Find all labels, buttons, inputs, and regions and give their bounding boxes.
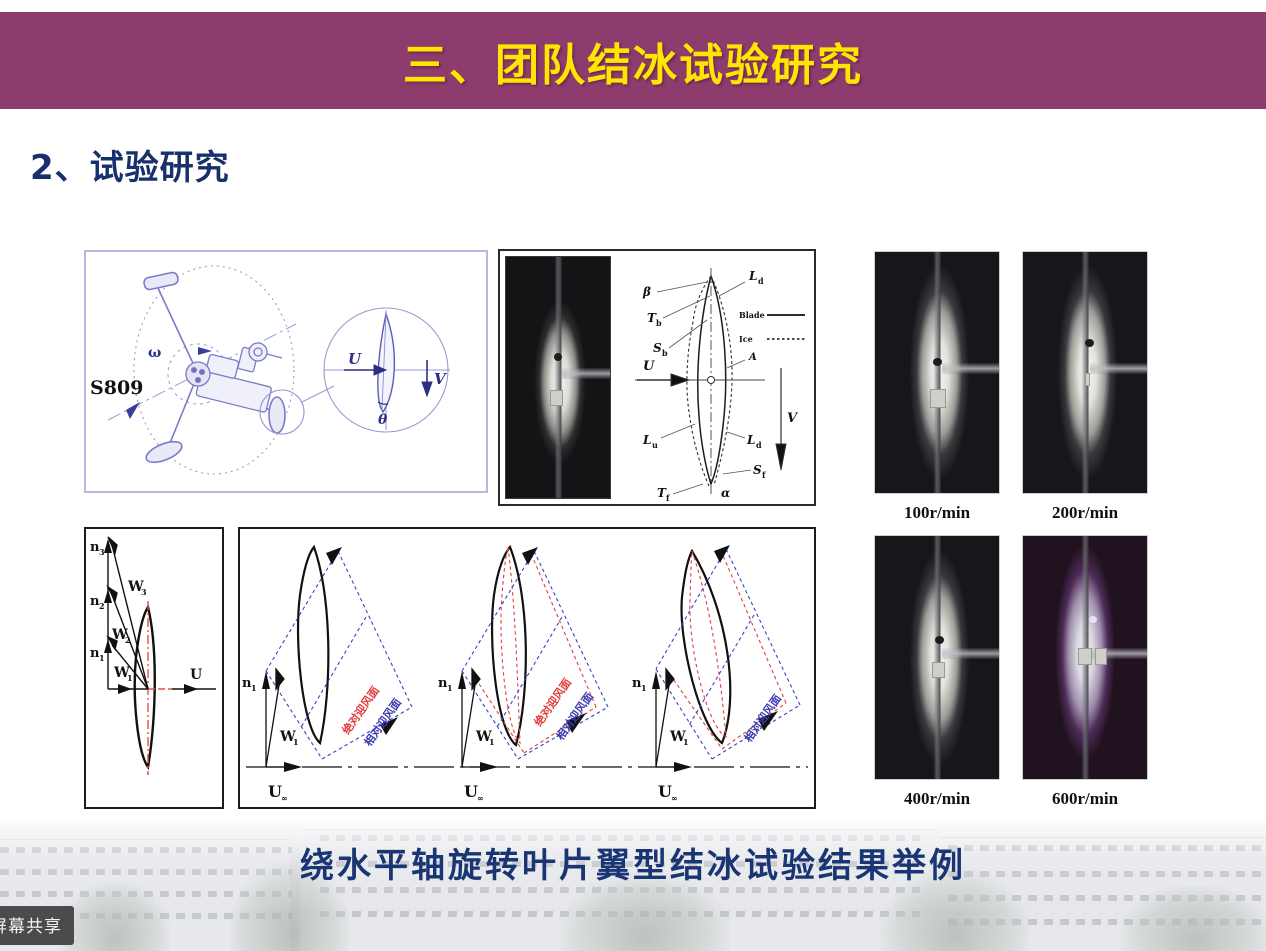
label-u-vector: U [643, 359, 655, 374]
iced-airfoil-photo [505, 256, 611, 499]
velocity-triangle-svg: n 1 n 2 n 3 W 1 W 2 W 3 U [86, 529, 222, 807]
photo-cell-200rpm [1022, 251, 1148, 494]
label-sf: S [753, 463, 762, 477]
label-sf-sub: f [762, 470, 766, 480]
rotor-schematic-svg: S809 ω U V θ [86, 252, 486, 491]
label-s809: S809 [90, 377, 143, 399]
subplot3-label-w-sub: 1 [683, 737, 689, 747]
subplot2-label-w-sub: 1 [489, 737, 495, 747]
subplot2-label-u: U [464, 782, 478, 801]
legend-blade-label: Blade [739, 310, 765, 320]
label-w1-sub: 1 [127, 673, 133, 683]
legend-ice-label: Ice [739, 334, 753, 344]
label-lu: L [642, 433, 651, 447]
photo-label-100rpm: 100r/min [874, 503, 1000, 523]
label-n3-sub: 3 [99, 547, 105, 557]
iced-airfoil-diagram: Blade Ice β L d T b S b A L u L d S [615, 256, 809, 499]
subplot3-annotation-relative: 相对迎风面 [741, 692, 784, 745]
label-tf-sub: f [666, 493, 670, 501]
label-omega: ω [148, 345, 161, 361]
label-lu-sub: u [652, 440, 658, 450]
subplot1-label-u-sub: ∞ [281, 793, 288, 803]
label-sb-sub: b [662, 348, 668, 358]
subplot2-label-n-sub: 1 [447, 683, 453, 693]
label-ld-top-sub: d [758, 276, 764, 286]
label-n2-sub: 2 [99, 601, 105, 611]
page-title: 三、团队结冰试验研究 [403, 29, 863, 93]
attack-subplot-3: n 1 W 1 U ∞ 相对迎风面 [632, 545, 800, 803]
label-a-point: A [748, 352, 757, 363]
photo-cell-100rpm [874, 251, 1000, 494]
photo-600rpm [1022, 535, 1148, 780]
subplot1-label-w-sub: 1 [293, 737, 299, 747]
photo-label-200rpm: 200r/min [1022, 503, 1148, 523]
subplot1-label-u: U [268, 782, 282, 801]
label-v-vector: V [787, 411, 799, 426]
screen-share-banner: 电的屏幕共享 [0, 906, 74, 945]
photo-cell-400rpm [874, 535, 1000, 780]
subplot3-label-u: U [658, 782, 672, 801]
slide-root: 三、团队结冰试验研究 2、试验研究 [0, 0, 1266, 951]
label-ld-bottom-sub: d [756, 440, 762, 450]
label-theta: θ [378, 412, 388, 428]
iced-airfoil-panel: Blade Ice β L d T b S b A L u L d S [498, 249, 816, 506]
airfoil-diagram-svg: Blade Ice β L d T b S b A L u L d S [615, 256, 809, 501]
attack-subplot-1: n 1 W 1 U ∞ 绝对迎风面 相对迎风面 [242, 547, 412, 803]
label-w3-sub: 3 [141, 587, 147, 597]
rotor-schematic-panel: S809 ω U V θ [84, 250, 488, 493]
label-w2-sub: 2 [125, 635, 131, 645]
label-beta: β [642, 285, 651, 299]
label-alpha: α [721, 486, 730, 500]
velocity-triangle-panel: n 1 n 2 n 3 W 1 W 2 W 3 U [84, 527, 224, 809]
section-header-bar: 三、团队结冰试验研究 [0, 12, 1266, 109]
subplot3-label-n-sub: 1 [641, 683, 647, 693]
label-sb: S [653, 341, 662, 355]
photo-label-400rpm: 400r/min [874, 789, 1000, 809]
photo-400rpm [874, 535, 1000, 780]
label-u: U [190, 667, 202, 683]
attack-diagrams-svg: n 1 W 1 U ∞ 绝对迎风面 相对迎风面 [240, 529, 814, 807]
photo-cell-600rpm [1022, 535, 1148, 780]
photo-100rpm [874, 251, 1000, 494]
subplot2-label-u-sub: ∞ [477, 793, 484, 803]
label-ld-bottom: L [746, 433, 755, 447]
label-ld-top: L [748, 269, 757, 283]
figure-caption: 绕水平轴旋转叶片翼型结冰试验结果举例 [0, 838, 1266, 887]
photo-200rpm [1022, 251, 1148, 494]
photo-label-600rpm: 600r/min [1022, 789, 1148, 809]
label-u-velocity: U [348, 350, 362, 368]
label-tb-sub: b [656, 318, 662, 328]
subsection-title: 2、试验研究 [30, 140, 230, 189]
label-n1-sub: 1 [99, 653, 105, 663]
subplot1-label-n-sub: 1 [251, 683, 257, 693]
attack-diagrams-panel: n 1 W 1 U ∞ 绝对迎风面 相对迎风面 [238, 527, 816, 809]
subplot3-label-u-sub: ∞ [671, 793, 678, 803]
label-v-velocity: V [434, 370, 447, 388]
attack-subplot-2: n 1 W 1 U ∞ 绝对迎风面 相对迎风面 [438, 547, 608, 803]
